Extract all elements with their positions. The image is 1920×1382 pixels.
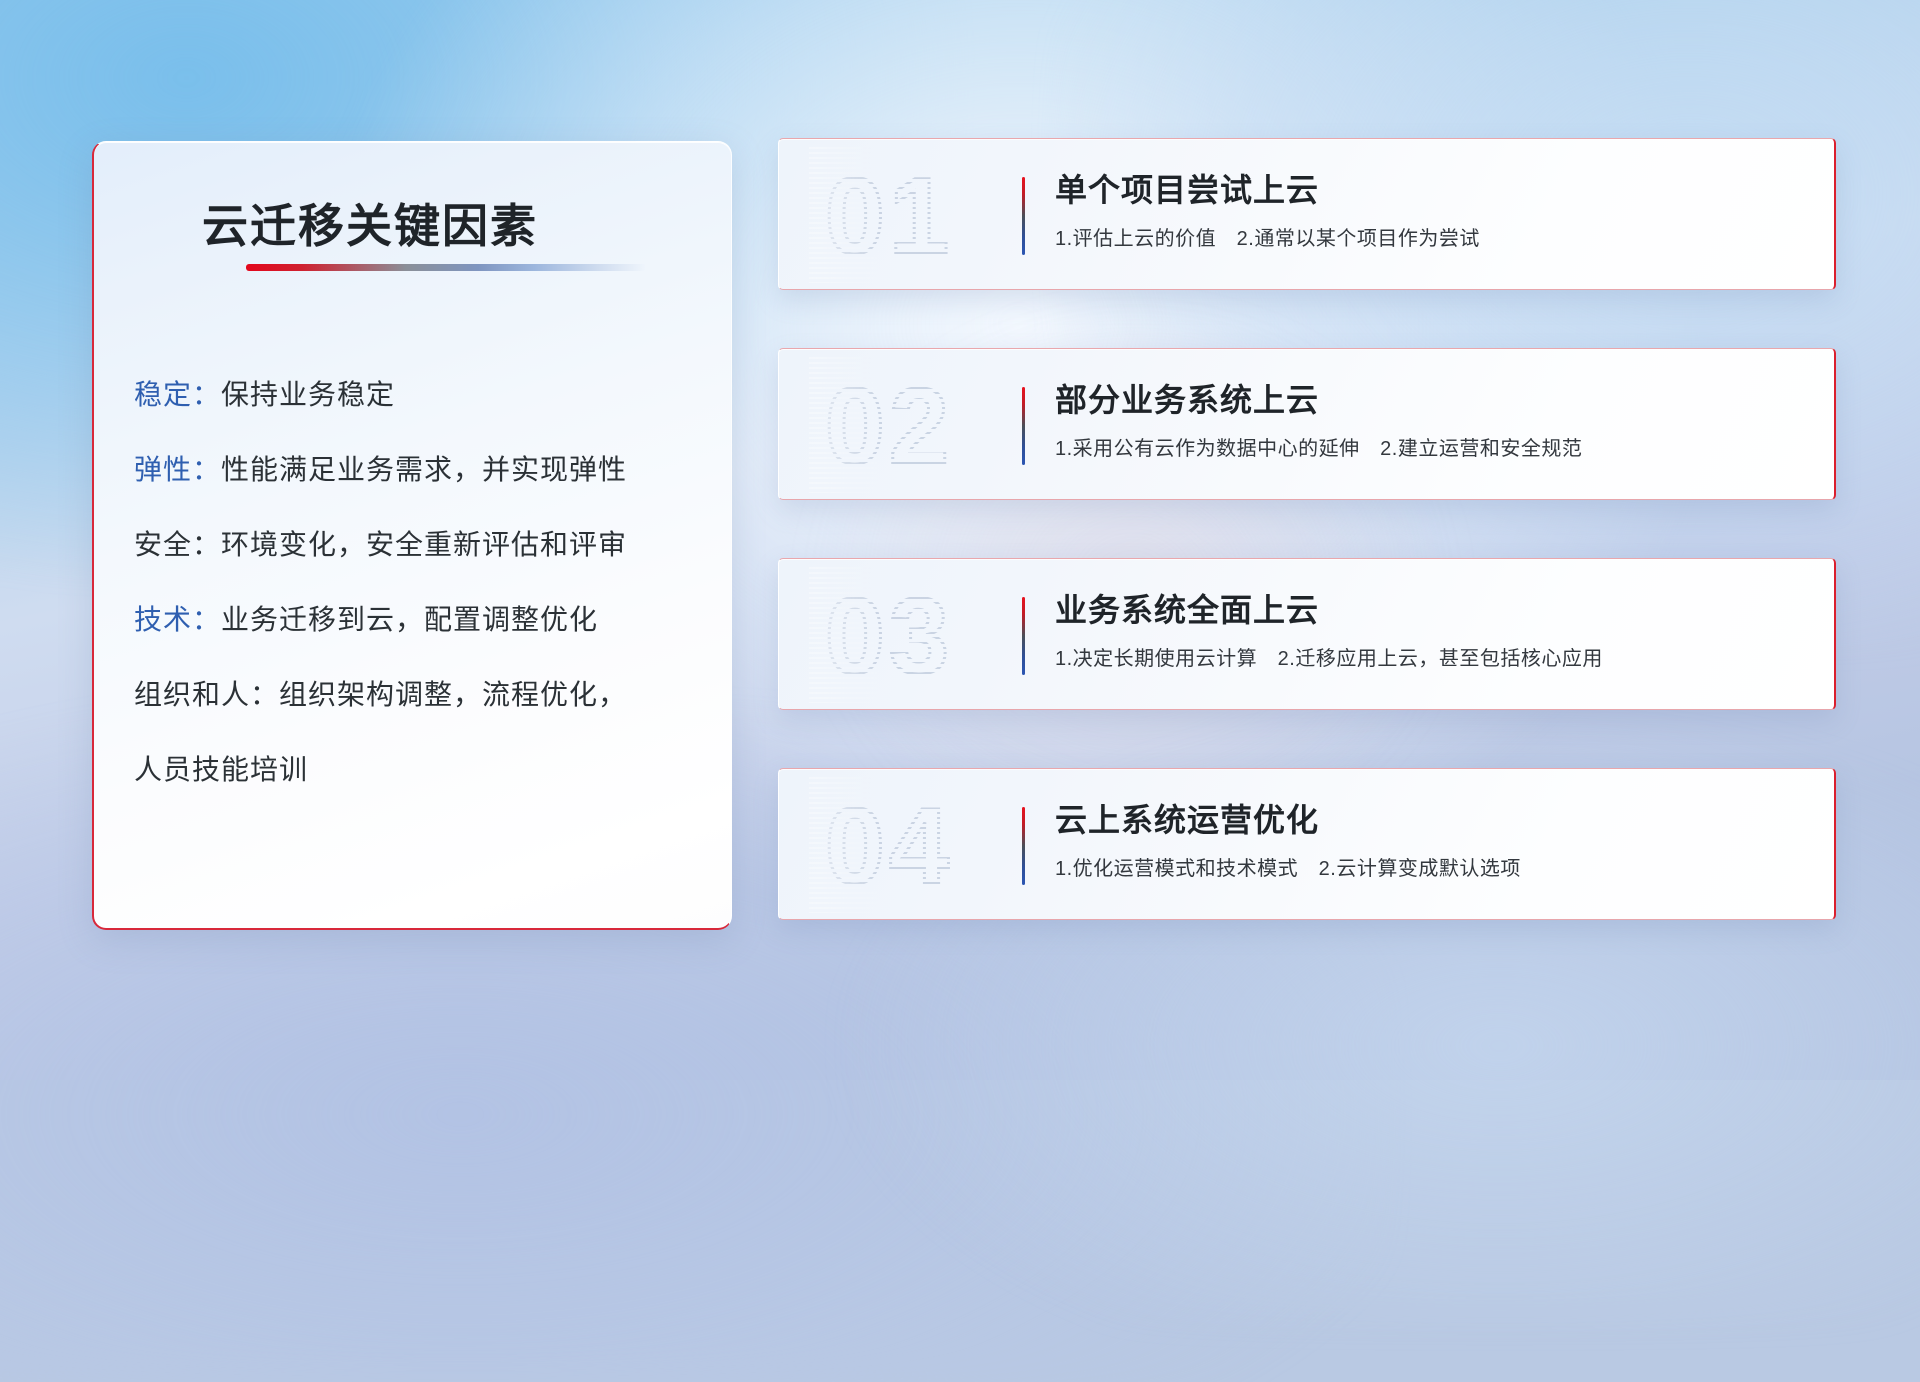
stage-subtitle: 1.决定长期使用云计算 2.迁移应用上云，甚至包括核心应用 — [1055, 639, 1810, 679]
list-item-text: 业务迁移到云，配置调整优化 — [221, 604, 598, 635]
list-item-text: 人员技能培训 — [134, 754, 308, 785]
stage-card-body: 云上系统运营优化 1.优化运营模式和技术模式 2.云计算变成默认选项 — [1055, 797, 1810, 889]
list-item: 安全：环境变化，安全重新评估和评审 — [134, 507, 701, 582]
stage-divider-bar — [1022, 807, 1025, 885]
stage-card-04[interactable]: 04 云上系统运营优化 1.优化运营模式和技术模式 2.云计算变成默认选项 — [778, 768, 1836, 920]
stage-title: 云上系统运营优化 — [1055, 797, 1810, 843]
stage-subtitle: 1.优化运营模式和技术模式 2.云计算变成默认选项 — [1055, 849, 1810, 889]
stage-number: 03 — [809, 567, 969, 703]
stage-subtitle: 1.采用公有云作为数据中心的延伸 2.建立运营和安全规范 — [1055, 429, 1810, 469]
list-item: 弹性：性能满足业务需求，并实现弹性 — [134, 432, 701, 507]
stage-card-03[interactable]: 03 业务系统全面上云 1.决定长期使用云计算 2.迁移应用上云，甚至包括核心应… — [778, 558, 1836, 710]
stage-title: 部分业务系统上云 — [1055, 377, 1810, 423]
stage-subtitle: 1.评估上云的价值 2.通常以某个项目作为尝试 — [1055, 219, 1810, 259]
stage-divider-bar — [1022, 597, 1025, 675]
list-item-text: 组织架构调整，流程优化， — [279, 679, 627, 710]
stage-number: 02 — [809, 357, 969, 493]
list-item-key: 安全： — [134, 529, 221, 560]
stage-number: 01 — [809, 147, 969, 283]
stage-card-body: 业务系统全面上云 1.决定长期使用云计算 2.迁移应用上云，甚至包括核心应用 — [1055, 587, 1810, 679]
panel-title-underline — [246, 264, 646, 271]
stage-number: 04 — [809, 777, 969, 913]
list-item-text: 环境变化，安全重新评估和评审 — [221, 529, 627, 560]
list-item-key: 技术： — [134, 604, 221, 635]
key-factors-panel: 云迁移关键因素 稳定：保持业务稳定 弹性：性能满足业务需求，并实现弹性 安全：环… — [92, 141, 732, 930]
stage-title: 单个项目尝试上云 — [1055, 167, 1810, 213]
list-item: 组织和人：组织架构调整，流程优化， — [134, 657, 701, 732]
list-item-key: 组织和人： — [134, 679, 279, 710]
list-item: 人员技能培训 — [134, 732, 701, 807]
stage-card-list: 01 单个项目尝试上云 1.评估上云的价值 2.通常以某个项目作为尝试 02 部… — [778, 138, 1836, 920]
panel-title: 云迁移关键因素 — [202, 190, 672, 256]
list-item-key: 稳定： — [134, 379, 221, 410]
stage-card-body: 部分业务系统上云 1.采用公有云作为数据中心的延伸 2.建立运营和安全规范 — [1055, 377, 1810, 469]
list-item-key: 弹性： — [134, 454, 221, 485]
stage-card-body: 单个项目尝试上云 1.评估上云的价值 2.通常以某个项目作为尝试 — [1055, 167, 1810, 259]
stage-card-01[interactable]: 01 单个项目尝试上云 1.评估上云的价值 2.通常以某个项目作为尝试 — [778, 138, 1836, 290]
list-item: 技术：业务迁移到云，配置调整优化 — [134, 582, 701, 657]
stage-card-02[interactable]: 02 部分业务系统上云 1.采用公有云作为数据中心的延伸 2.建立运营和安全规范 — [778, 348, 1836, 500]
list-item-text: 性能满足业务需求，并实现弹性 — [221, 454, 627, 485]
stage-title: 业务系统全面上云 — [1055, 587, 1810, 633]
list-item-text: 保持业务稳定 — [221, 379, 395, 410]
stage-divider-bar — [1022, 177, 1025, 255]
key-factors-list: 稳定：保持业务稳定 弹性：性能满足业务需求，并实现弹性 安全：环境变化，安全重新… — [134, 357, 701, 807]
stage-divider-bar — [1022, 387, 1025, 465]
list-item: 稳定：保持业务稳定 — [134, 357, 701, 432]
